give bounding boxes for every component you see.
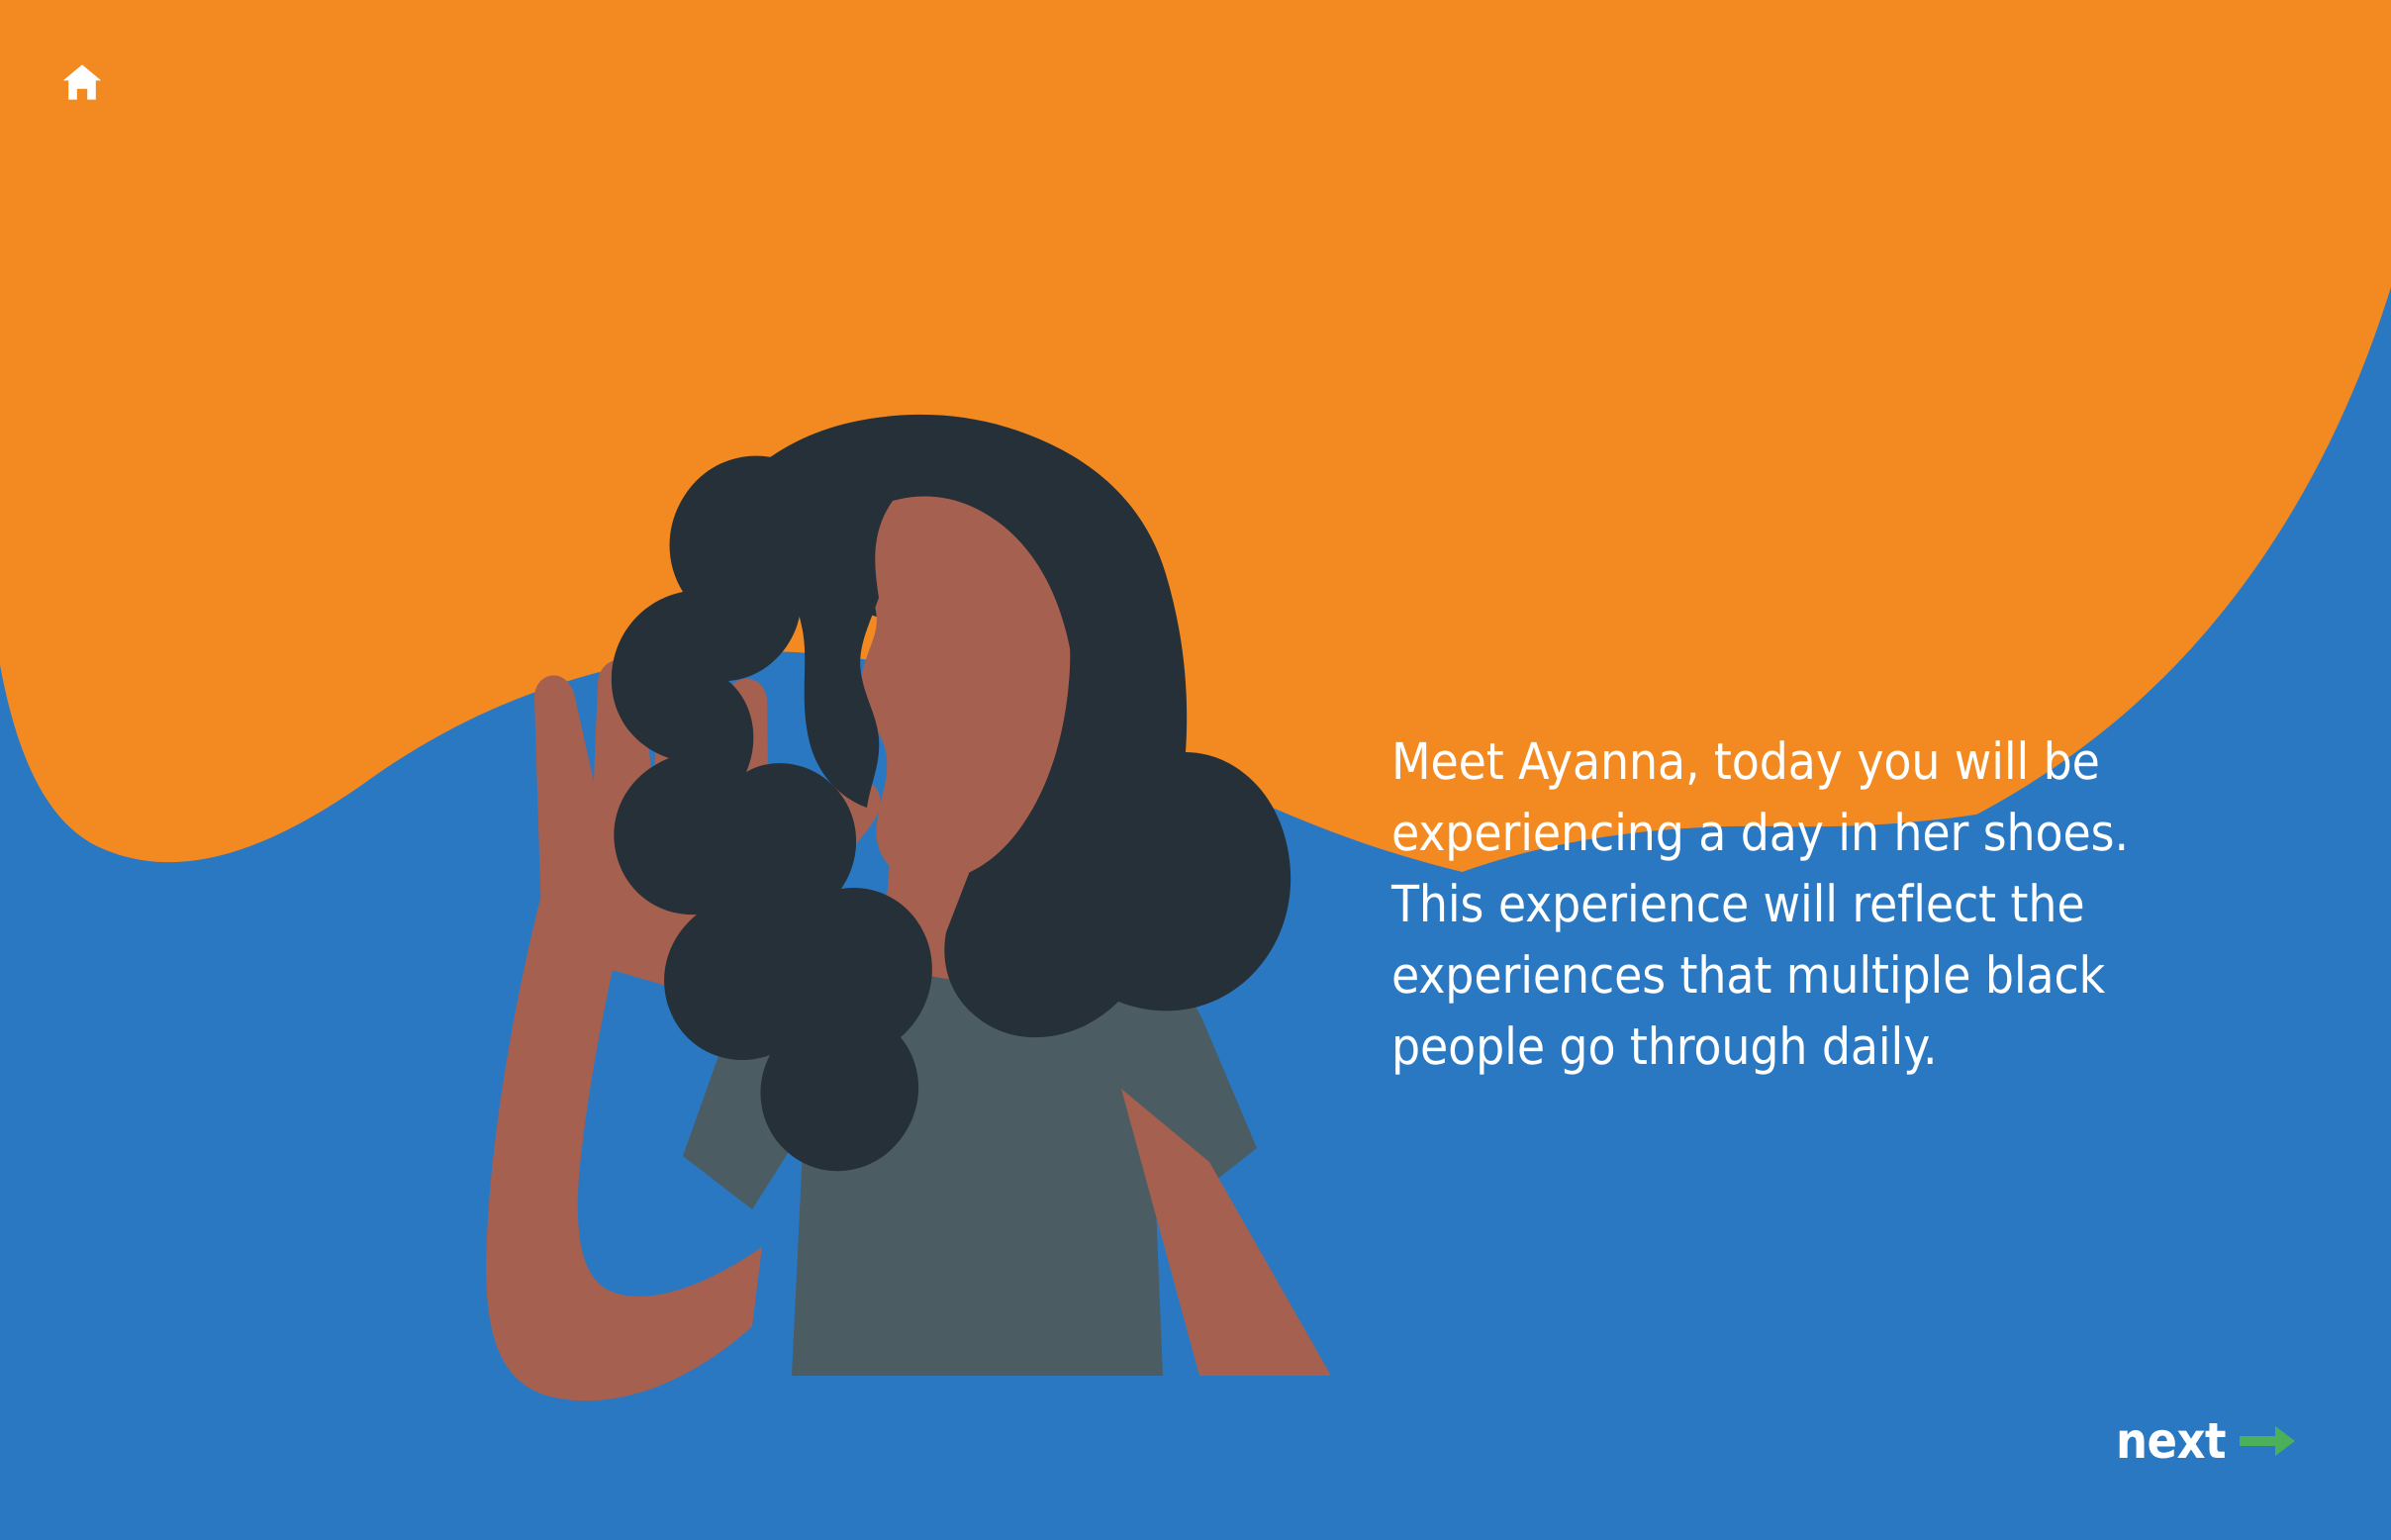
home-button[interactable] [51, 51, 113, 113]
next-button[interactable]: next [2116, 1416, 2297, 1466]
slide-canvas: Meet Ayanna, today you will be experienc… [0, 0, 2391, 1540]
home-icon [58, 58, 106, 106]
arrow-right-icon [2240, 1424, 2297, 1458]
narration-text: Meet Ayanna, today you will be experienc… [1391, 727, 2173, 1084]
next-button-label: next [2116, 1416, 2226, 1466]
